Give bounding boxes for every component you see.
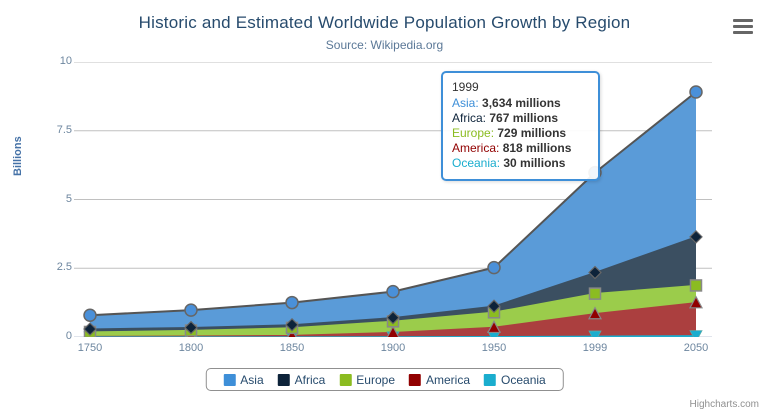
legend-item-label: Asia [240,373,263,387]
tooltip-series-value: 767 millions [489,111,558,125]
data-point-marker-asia[interactable] [286,297,298,309]
x-axis-tick-label: 1800 [151,342,231,354]
x-axis-tick-label: 1950 [454,342,534,354]
chart-subtitle: Source: Wikipedia.org [0,38,769,52]
tooltip-row: Europe: 729 millions [452,126,589,141]
y-axis-tick-label: 5 [16,194,72,205]
legend-item-label: America [426,373,470,387]
x-axis-labels: 1750180018501900195019992050 [74,342,712,362]
x-axis-tick-label: 1850 [252,342,332,354]
tooltip-row: Africa: 767 millions [452,111,589,126]
y-axis-tick-label: 7.5 [16,125,72,136]
tooltip-series-name: Europe: [452,126,497,140]
legend-swatch-icon [223,374,235,386]
hamburger-icon[interactable] [730,14,756,38]
tooltip-series-name: Africa: [452,111,489,125]
data-point-marker-europe[interactable] [691,280,702,291]
data-point-marker-asia[interactable] [488,262,500,274]
tooltip-rows: Asia: 3,634 millionsAfrica: 767 millions… [452,96,589,171]
legend-swatch-icon [278,374,290,386]
legend-item-africa[interactable]: Africa [271,373,333,387]
legend-item-label: Oceania [501,373,546,387]
chart-title: Historic and Estimated Worldwide Populat… [0,13,769,33]
tooltip-row: America: 818 millions [452,141,589,156]
legend: AsiaAfricaEuropeAmericaOceania [205,368,563,391]
tooltip-series-value: 3,634 millions [482,96,561,110]
x-axis-tick-label: 1900 [353,342,433,354]
legend-swatch-icon [409,374,421,386]
legend-item-america[interactable]: America [402,373,477,387]
data-point-marker-asia[interactable] [84,309,96,321]
x-axis-tick-label: 1750 [50,342,130,354]
legend-item-label: Europe [356,373,395,387]
legend-item-asia[interactable]: Asia [216,373,270,387]
y-axis-tick-label: 0 [16,331,72,342]
tooltip-series-value: 818 millions [503,141,572,155]
tooltip-series-value: 30 millions [503,156,565,170]
legend-swatch-icon [339,374,351,386]
tooltip-series-name: America: [452,141,503,155]
data-point-marker-asia[interactable] [185,304,197,316]
highcharts-container: Historic and Estimated Worldwide Populat… [0,0,769,416]
tooltip-series-name: Asia: [452,96,482,110]
tooltip-header: 1999 [452,80,589,94]
hamburger-bar [733,25,753,28]
tooltip-row: Oceania: 30 millions [452,156,589,171]
data-point-marker-asia[interactable] [387,286,399,298]
tooltip-row: Asia: 3,634 millions [452,96,589,111]
hamburger-bar [733,31,753,34]
y-axis-tick-label: 10 [16,56,72,67]
legend-swatch-icon [484,374,496,386]
tooltip-series-value: 729 millions [497,126,566,140]
x-axis-tick-label: 1999 [555,342,635,354]
credits-label: Highcharts.com [690,399,759,410]
tooltip: 1999 Asia: 3,634 millionsAfrica: 767 mil… [441,71,600,181]
legend-item-label: Africa [295,373,326,387]
hamburger-bar [733,19,753,22]
plot-area [74,62,712,337]
legend-item-europe[interactable]: Europe [332,373,402,387]
series-canvas [74,62,712,337]
tooltip-series-name: Oceania: [452,156,503,170]
y-axis-tick-label: 2.5 [16,262,72,273]
x-axis-tick-label: 2050 [656,342,736,354]
legend-item-oceania[interactable]: Oceania [477,373,553,387]
data-point-marker-asia[interactable] [690,86,702,98]
